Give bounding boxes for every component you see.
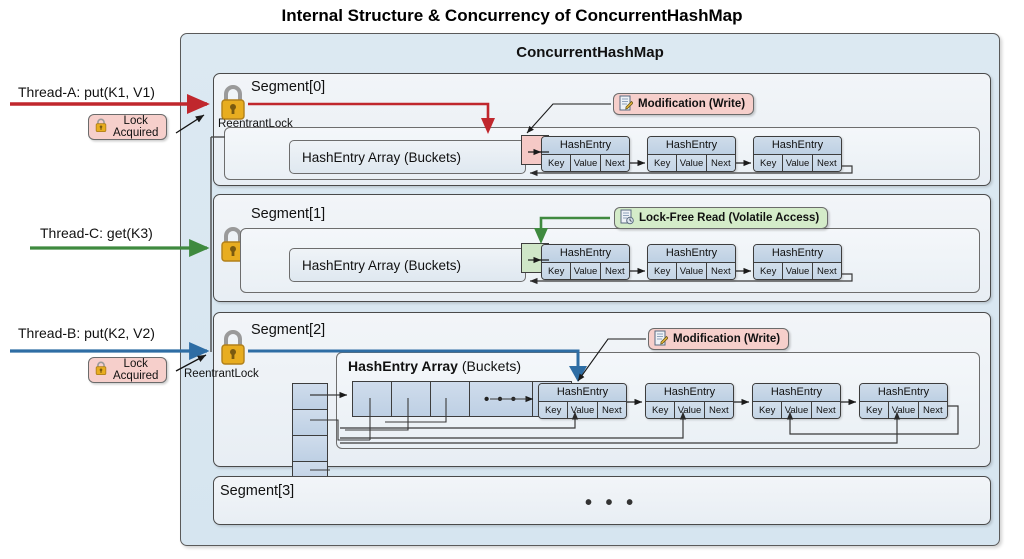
hashentry-next-cell: Next [919,402,947,419]
hashentry-next-cell: Next [707,155,735,172]
hashentry-title: HashEntry [648,137,735,155]
lock-acquired-badge-b[interactable]: LockAcquired [88,357,167,383]
segment-3-ellipsis: • • • [585,492,637,515]
hashentry-node[interactable]: HashEntry Key Value Next [647,136,736,172]
concurrenthashmap-title: ConcurrentHashMap [180,44,1000,61]
hashentry-key-cell: Key [754,263,783,280]
hashentry-key-cell: Key [539,402,568,419]
hashentry-node[interactable]: HashEntry Key Value Next [538,383,627,419]
hashentry-next-cell: Next [601,155,629,172]
bucket-cell-ellipsis: • • • [469,381,532,417]
segment-2-buckets-label-rest: (Buckets) [458,358,521,374]
modification-write-badge-2[interactable]: Modification (Write) [648,328,789,350]
hashentry-key-cell: Key [542,155,571,172]
hashentry-key-cell: Key [646,402,675,419]
segment-1-buckets-label: HashEntry Array (Buckets) [290,258,461,273]
hashentry-title: HashEntry [754,137,841,155]
modification-write-label: Modification (Write) [638,98,745,110]
bucket-cell [430,381,469,417]
thread-a-label: Thread-A: put(K1, V1) [18,84,155,100]
hashentry-node[interactable]: HashEntry Key Value Next [541,136,630,172]
segment-2-sublabel: ReentrantLock [184,368,259,380]
hashentry-node[interactable]: HashEntry Key Value Next [753,136,842,172]
hashentry-value-cell: Value [677,263,706,280]
write-note-icon [619,95,633,114]
hashentry-title: HashEntry [646,384,733,402]
hashentry-value-cell: Value [783,155,812,172]
hashentry-title: HashEntry [542,137,629,155]
hashentry-next-cell: Next [813,155,841,172]
hashentry-key-cell: Key [753,402,782,419]
page-title: Internal Structure & Concurrency of Conc… [0,6,1024,26]
hashentry-node[interactable]: HashEntry Key Value Next [753,244,842,280]
hashentry-value-cell: Value [568,402,597,419]
segment-1-label: Segment[1] [251,206,325,222]
thread-b-label: Thread-B: put(K2, V2) [18,325,155,341]
hashentry-value-cell: Value [783,263,812,280]
write-note-icon [654,330,668,349]
bucket-cell [352,381,391,417]
hashentry-title: HashEntry [753,384,840,402]
hashentry-next-cell: Next [601,263,629,280]
segment-0-label: Segment[0] [251,79,325,95]
segment-2-buckets-label: HashEntry Array (Buckets) [348,358,521,374]
hashentry-next-cell: Next [598,402,626,419]
lock-icon [217,80,249,124]
lock-acquired-badge-a[interactable]: LockAcquired [88,114,167,140]
segment-0-buckets-label: HashEntry Array (Buckets) [290,150,461,165]
lock-acquired-label: LockAcquired [113,115,158,140]
hashentry-key-cell: Key [648,263,677,280]
index-cell [292,383,328,409]
hashentry-key-cell: Key [754,155,783,172]
modification-write-badge-0[interactable]: Modification (Write) [613,93,754,115]
hashentry-key-cell: Key [542,263,571,280]
hashentry-key-cell: Key [648,155,677,172]
hashentry-value-cell: Value [675,402,704,419]
hashentry-next-cell: Next [813,263,841,280]
hashentry-node[interactable]: HashEntry Key Value Next [541,244,630,280]
hashentry-value-cell: Value [677,155,706,172]
index-cell [292,409,328,435]
hashentry-node[interactable]: HashEntry Key Value Next [647,244,736,280]
thread-c-label: Thread-C: get(K3) [40,225,153,241]
hashentry-value-cell: Value [889,402,918,419]
hashentry-title: HashEntry [754,245,841,263]
read-doc-icon [620,209,634,228]
modification-write-label: Modification (Write) [673,333,780,345]
hashentry-next-cell: Next [707,263,735,280]
segment-0-buckets-box: HashEntry Array (Buckets) [289,140,526,174]
segment-2-label: Segment[2] [251,322,325,338]
lock-free-read-label: Lock-Free Read (Volatile Access) [639,212,819,224]
segment-1-buckets-box: HashEntry Array (Buckets) [289,248,526,282]
hashentry-value-cell: Value [571,263,600,280]
lock-icon [94,117,108,137]
hashentry-node[interactable]: HashEntry Key Value Next [859,383,948,419]
bucket-cell [391,381,430,417]
hashentry-value-cell: Value [571,155,600,172]
lock-free-read-badge[interactable]: Lock-Free Read (Volatile Access) [614,207,828,229]
index-cell [292,435,328,461]
hashentry-node[interactable]: HashEntry Key Value Next [752,383,841,419]
hashentry-title: HashEntry [542,245,629,263]
hashentry-node[interactable]: HashEntry Key Value Next [645,383,734,419]
lock-icon [217,325,249,369]
lock-icon [94,360,108,380]
hashentry-title: HashEntry [860,384,947,402]
segment-3-label: Segment[3] [220,483,294,499]
segment-2-index-stack [292,383,328,488]
lock-acquired-label: LockAcquired [113,358,158,383]
hashentry-key-cell: Key [860,402,889,419]
hashentry-next-cell: Next [812,402,840,419]
segment-2-buckets-label-bold: HashEntry Array [348,358,458,374]
hashentry-next-cell: Next [705,402,733,419]
hashentry-title: HashEntry [539,384,626,402]
hashentry-value-cell: Value [782,402,811,419]
hashentry-title: HashEntry [648,245,735,263]
